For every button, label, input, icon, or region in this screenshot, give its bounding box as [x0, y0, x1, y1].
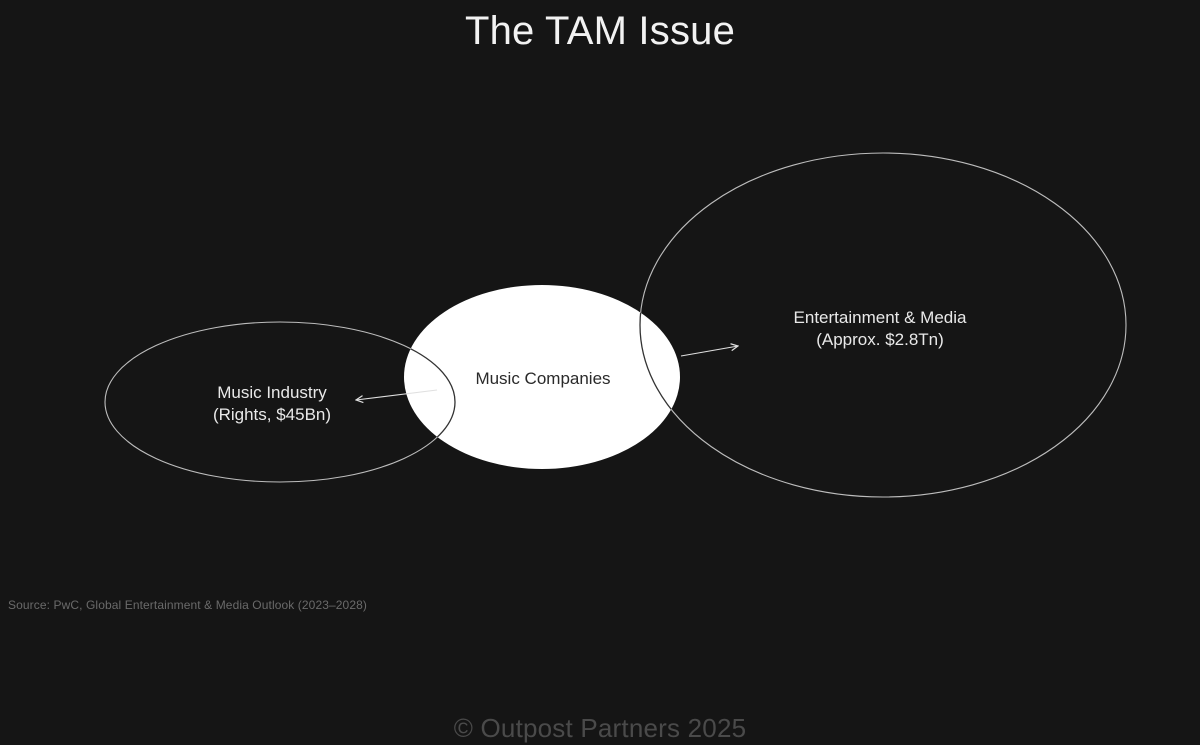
- label-music-industry-line2: (Rights, $45Bn): [213, 405, 331, 424]
- venn-diagram: Music Industry (Rights, $45Bn) Music Com…: [0, 0, 1200, 745]
- label-music-industry-line1: Music Industry: [217, 383, 327, 402]
- venn-ellipse-music-industry: [105, 322, 455, 482]
- arrow-to-entertainment-media: [681, 346, 738, 356]
- source-note: Source: PwC, Global Entertainment & Medi…: [8, 598, 367, 612]
- label-entertainment-media-line1: Entertainment & Media: [794, 308, 967, 327]
- slide-canvas: The TAM Issue: [0, 0, 1200, 745]
- venn-diagram-svg: Music Industry (Rights, $45Bn) Music Com…: [0, 0, 1200, 745]
- label-music-companies: Music Companies: [475, 369, 610, 388]
- overlap-arc-music-industry: [105, 322, 455, 482]
- label-entertainment-media-line2: (Approx. $2.8Tn): [816, 330, 944, 349]
- footer-credit: © Outpost Partners 2025: [0, 713, 1200, 744]
